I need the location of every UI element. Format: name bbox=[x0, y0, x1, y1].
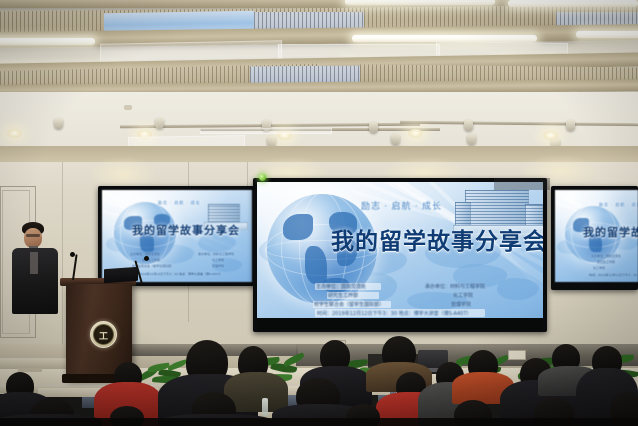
center-main-screen[interactable]: 励志 · 启航 · 成长 我的留学故事分享会 主办单位：国际交流处 研究生工作部… bbox=[253, 178, 547, 332]
recessed-downlight bbox=[7, 129, 22, 138]
right-side-screen[interactable]: 励志 · 启航 · 成长 我的留学故事分享会 主办单位：国际交流处 研究生工作部… bbox=[551, 186, 638, 290]
wall-shadow bbox=[494, 178, 550, 190]
slide-footer: 时间：2019年12月12日下午3：30 地点：博学大讲堂（博S-A407） bbox=[130, 272, 223, 276]
ceiling-light-tube bbox=[345, 0, 495, 5]
slide-credit: 化工学院 bbox=[212, 258, 224, 262]
laptop[interactable] bbox=[104, 267, 138, 283]
track-spotlight[interactable] bbox=[464, 120, 473, 131]
microphone-head[interactable] bbox=[70, 252, 75, 257]
seal-inner-ring: 工 bbox=[93, 324, 114, 345]
slide-credit: 主办单位：国际交流处 bbox=[591, 254, 621, 258]
speaker-shirt-front bbox=[30, 252, 38, 274]
slide-credit-left-3: 校学生联合会（留学生国际部） bbox=[314, 301, 384, 308]
slide-credit: 化工学院 bbox=[593, 266, 605, 270]
slide-slogan-left: 励志 · 启航 · 成长 bbox=[158, 200, 201, 206]
track-spotlight[interactable] bbox=[155, 118, 164, 129]
recessed-downlight bbox=[543, 131, 558, 140]
slide-footer-line: 时间：2019年12月12日下午3：30 地点：博学大讲堂（博S-A407） bbox=[317, 310, 471, 317]
foreground-shadow bbox=[0, 418, 638, 426]
ceiling-light-tube bbox=[508, 0, 638, 7]
main-slide: 励志 · 启航 · 成长 我的留学故事分享会 主办单位：国际交流处 研究生工作部… bbox=[257, 182, 543, 318]
ceiling bbox=[0, 0, 638, 152]
ceiling-light-tube bbox=[352, 35, 537, 42]
slide-slogan: 励志 · 启航 · 成长 bbox=[361, 199, 442, 212]
slide-title-right: 我的留学故事分享会 bbox=[583, 224, 638, 240]
track-spotlight[interactable] bbox=[566, 120, 575, 131]
slide-credit: 承办单位：材料与工程学院 bbox=[198, 252, 234, 256]
seal-glyph: 工 bbox=[94, 329, 113, 342]
speaker-glasses bbox=[26, 234, 40, 237]
track-spotlight[interactable] bbox=[467, 134, 476, 145]
slide-credit-right-2: 化工学院 bbox=[453, 292, 473, 299]
slide-credit-right-3: 管理学院 bbox=[451, 301, 471, 308]
microphone-head[interactable] bbox=[144, 256, 149, 261]
slide-credit-left-1: 主办单位：国际交流处 bbox=[316, 283, 366, 290]
track-spotlight[interactable] bbox=[369, 122, 378, 133]
ceiling-seam bbox=[200, 128, 332, 134]
slide-slogan-right: 励志 · 启航 · 成长 bbox=[599, 202, 638, 208]
slide-credit: 研究生工作部 bbox=[597, 260, 615, 264]
slide-title-left: 我的留学故事分享会 bbox=[132, 222, 240, 238]
auditorium-photo: 励志 · 启航 · 成长 我的留学故事分享会 主办单位：国际交流处 研究生工作部… bbox=[0, 0, 638, 426]
water-bottle[interactable] bbox=[262, 398, 268, 416]
ceiling-light-tube bbox=[576, 31, 638, 38]
track-spotlight[interactable] bbox=[54, 118, 63, 129]
university-seal: 工 bbox=[90, 321, 117, 348]
green-power-led bbox=[259, 174, 266, 181]
slide-main-title: 我的留学故事分享会 bbox=[331, 222, 543, 256]
recessed-downlight bbox=[408, 129, 423, 138]
ceiling-light-tube bbox=[0, 38, 95, 45]
wall-seam bbox=[62, 162, 63, 352]
track-spotlight[interactable] bbox=[391, 134, 400, 145]
slide-credit-left-2: 研究生工作部 bbox=[328, 292, 358, 299]
speaker-head bbox=[24, 228, 42, 248]
smoke-detector bbox=[124, 105, 132, 110]
slide-footer: 时间：2019年12月12日下午3：30 地点：博学大讲堂（博S-A407） bbox=[589, 273, 638, 277]
screen-lower-bezel bbox=[257, 318, 543, 330]
slide-credit-right-1: 承办单位：材料与工程学院 bbox=[425, 283, 485, 290]
slide-credit: 管理学院 bbox=[212, 264, 224, 268]
